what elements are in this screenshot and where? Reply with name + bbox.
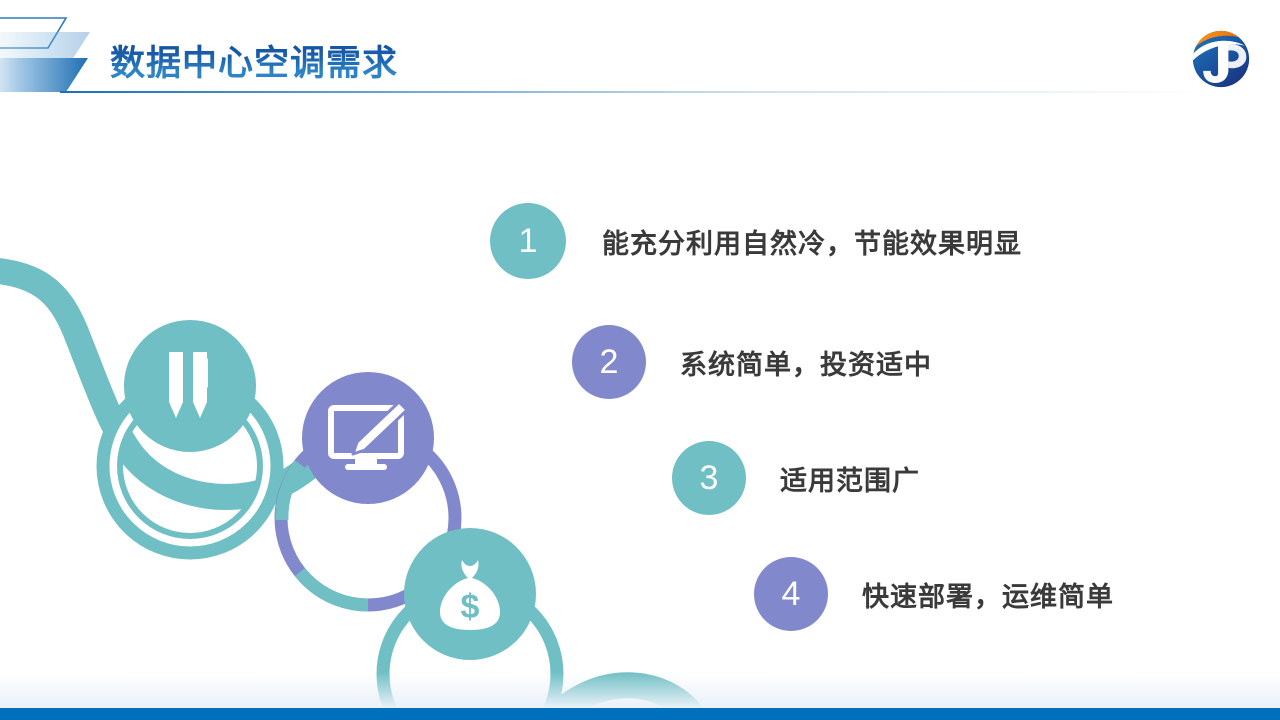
slide-canvas: 数据中心空调需求 [0, 0, 1280, 720]
monitor-pencil-icon [325, 400, 411, 476]
bullet-text-2: 系统简单，投资适中 [680, 343, 932, 382]
svg-text:$: $ [461, 588, 480, 626]
page-title: 数据中心空调需求 [110, 35, 398, 86]
bullet-text-1: 能充分利用自然冷，节能效果明显 [602, 222, 1022, 261]
decor-circle-monitor [302, 372, 434, 504]
bullet-number-2: 2 [572, 325, 646, 399]
bullet-text-4: 快速部署，运维简单 [862, 575, 1114, 614]
company-logo-icon [1184, 22, 1258, 96]
money-bag-icon: $ [432, 554, 508, 634]
footer-gradient [0, 672, 1280, 708]
footer-bar [0, 708, 1280, 720]
bullet-text-3: 适用范围广 [780, 459, 920, 498]
pens-icon [155, 344, 225, 428]
bullet-number-1: 1 [490, 203, 566, 279]
bullet-number-4: 4 [754, 557, 828, 631]
decor-circle-money: $ [404, 528, 536, 660]
bullet-number-3: 3 [672, 441, 746, 515]
bullet-item-2[interactable]: 2 系统简单，投资适中 [572, 325, 932, 399]
bullet-item-4[interactable]: 4 快速部署，运维简单 [754, 557, 1114, 631]
bullet-item-1[interactable]: 1 能充分利用自然冷，节能效果明显 [490, 203, 1022, 279]
bullet-item-3[interactable]: 3 适用范围广 [672, 441, 920, 515]
decor-circle-pens [124, 320, 256, 452]
